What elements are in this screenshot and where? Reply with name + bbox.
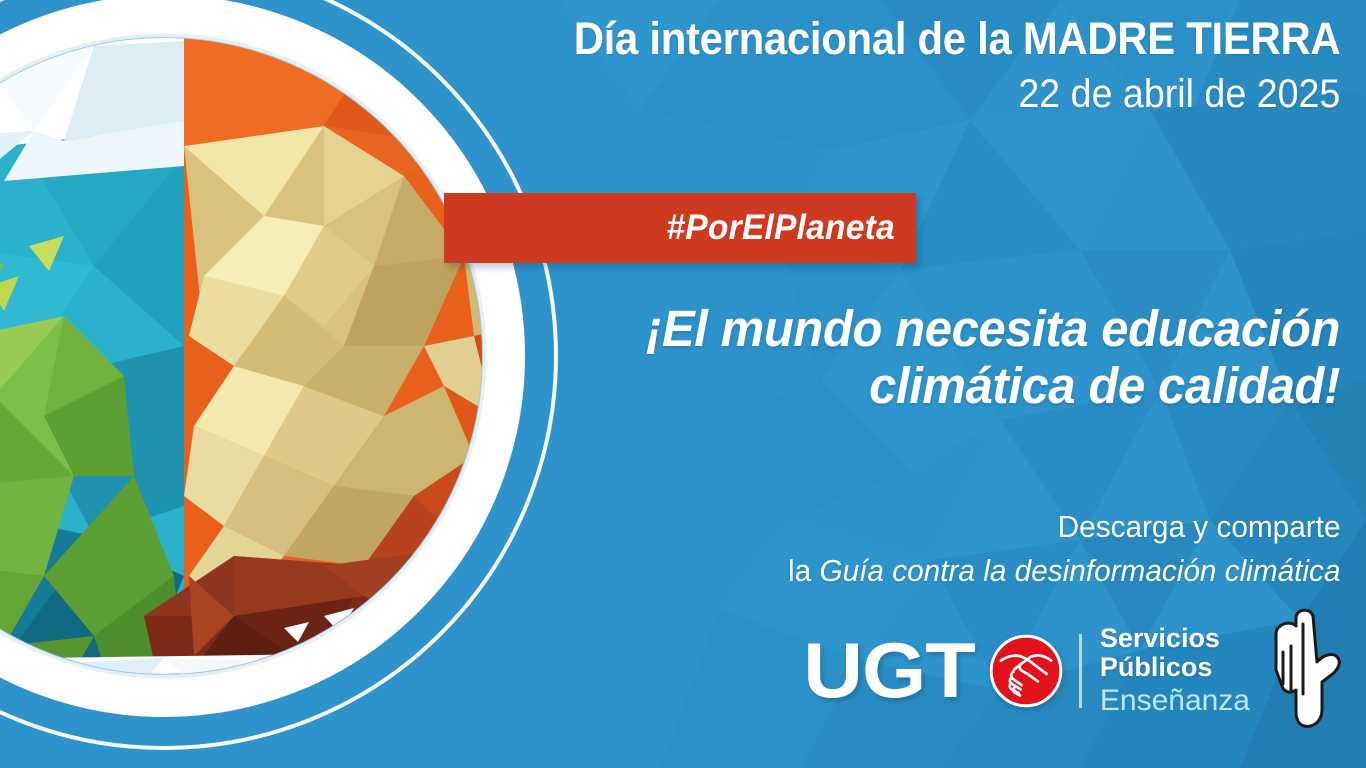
poster-title-block: Día internacional de la MADRE TIERRA 22 … [516,16,1340,115]
ugt-logo-bar[interactable]: UGT Servicios Públicos Ense [813,598,1350,744]
cta-line-2: la Guía contra la desinformación climáti… [788,549,1340,593]
hashtag-label: #PorElPlaneta [666,208,916,248]
logo-divider [1079,634,1082,708]
slogan-line-1: ¡El mundo necesita educación [543,300,1340,357]
cta-line-1: Descarga y comparte [788,505,1340,549]
slogan-line-2: climática de calidad! [543,357,1340,414]
union-name-line-1: Servicios [1100,624,1250,653]
hashtag-banner: #PorElPlaneta [444,193,916,263]
handshake-icon [989,634,1063,708]
slogan-block: ¡El mundo necesita educación climática d… [510,300,1340,414]
call-to-action-block: Descarga y comparte la Guía contra la de… [765,505,1341,593]
earth-day-poster: Día internacional de la MADRE TIERRA 22 … [0,0,1366,768]
event-date: 22 de abril de 2025 [565,73,1340,115]
cta-prefix: la [788,553,819,588]
pointing-hand-icon [1250,598,1350,738]
union-sector-label: Enseñanza [1100,684,1250,718]
union-name-block: Servicios Públicos Enseñanza [1100,624,1250,718]
union-name-line-2: Públicos [1100,653,1250,682]
guide-title: Guía contra la desinformación climática [819,553,1340,588]
page-title: Día internacional de la MADRE TIERRA [573,16,1340,61]
ugt-wordmark: UGT [804,639,975,703]
